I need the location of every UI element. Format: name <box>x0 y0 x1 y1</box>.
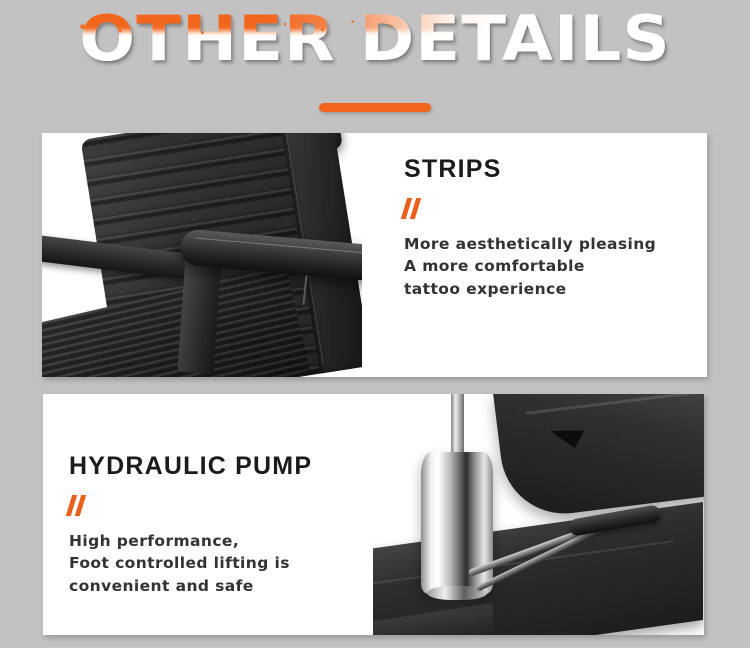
detail-card-hydraulic-pump: HYDRAULIC PUMP High performance, Foot co… <box>43 394 704 635</box>
strips-body-text: More aesthetically pleasing A more comfo… <box>404 233 707 300</box>
strips-body-line-1: More aesthetically pleasing <box>404 233 707 255</box>
strips-divider-slashes <box>404 198 707 220</box>
product-detail-page: OTHER DETAILS OTHER DETAILS STRIPS <box>0 0 750 648</box>
page-title: OTHER DETAILS <box>79 8 671 70</box>
slash-mark-2 <box>410 198 421 219</box>
detail-card-strips: STRIPS More aesthetically pleasing A mor… <box>42 133 707 377</box>
pump-text-panel: HYDRAULIC PUMP High performance, Foot co… <box>43 394 373 635</box>
page-title-wrap: OTHER DETAILS OTHER DETAILS <box>0 8 750 70</box>
strips-body-line-2: A more comfortable <box>404 255 707 277</box>
pump-body-line-1: High performance, <box>69 530 373 552</box>
pump-chrome-cylinder <box>421 452 493 594</box>
title-underline-bar <box>319 103 431 112</box>
pump-divider-slashes <box>69 495 373 517</box>
chair-scene <box>42 133 362 377</box>
page-header: OTHER DETAILS OTHER DETAILS <box>0 8 750 118</box>
pump-heading: HYDRAULIC PUMP <box>69 452 373 481</box>
chair-underframe <box>493 394 704 521</box>
pump-scene <box>373 394 704 635</box>
strips-heading: STRIPS <box>404 155 707 184</box>
hydraulic-pump-photo <box>373 394 704 635</box>
pump-body-line-3: convenient and safe <box>69 575 373 597</box>
leather-chair-photo <box>42 133 362 377</box>
strips-text-panel: STRIPS More aesthetically pleasing A mor… <box>362 133 707 377</box>
slash-mark-2 <box>75 495 86 516</box>
pump-body-text: High performance, Foot controlled liftin… <box>69 530 373 597</box>
strips-body-line-3: tattoo experience <box>404 278 707 300</box>
pump-body-line-2: Foot controlled lifting is <box>69 552 373 574</box>
